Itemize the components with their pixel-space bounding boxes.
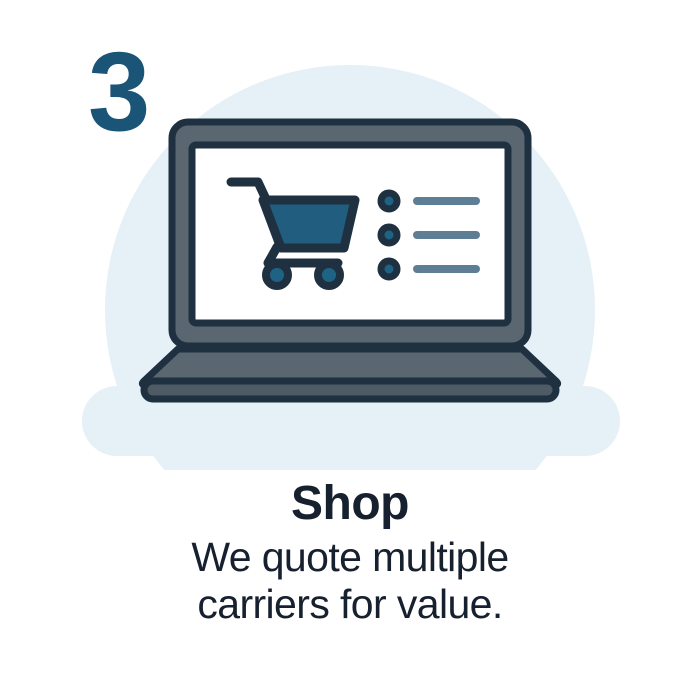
list-bullet-dot xyxy=(381,261,397,277)
list-line xyxy=(413,197,480,205)
illustration-card: 3 Shop We quote multiple carriers for va… xyxy=(0,0,700,700)
laptop xyxy=(142,122,557,399)
cart-basket xyxy=(263,200,355,248)
step-number: 3 xyxy=(88,29,148,154)
cart-wheel-left xyxy=(266,264,288,286)
list-bullet-dot xyxy=(381,227,397,243)
laptop-shopping-illustration: 3 xyxy=(0,0,700,470)
caption-block: Shop We quote multiple carriers for valu… xyxy=(0,478,700,629)
list-bullet-dot xyxy=(381,193,397,209)
step-description-line-1: We quote multiple xyxy=(191,534,508,580)
step-description: We quote multiple carriers for value. xyxy=(0,534,700,629)
list-line xyxy=(413,231,480,239)
list-line xyxy=(413,265,480,273)
cart-wheel-right xyxy=(318,264,340,286)
laptop-base-lip xyxy=(144,381,556,399)
page-title: Shop xyxy=(0,478,700,530)
step-description-line-2: carriers for value. xyxy=(197,581,502,627)
